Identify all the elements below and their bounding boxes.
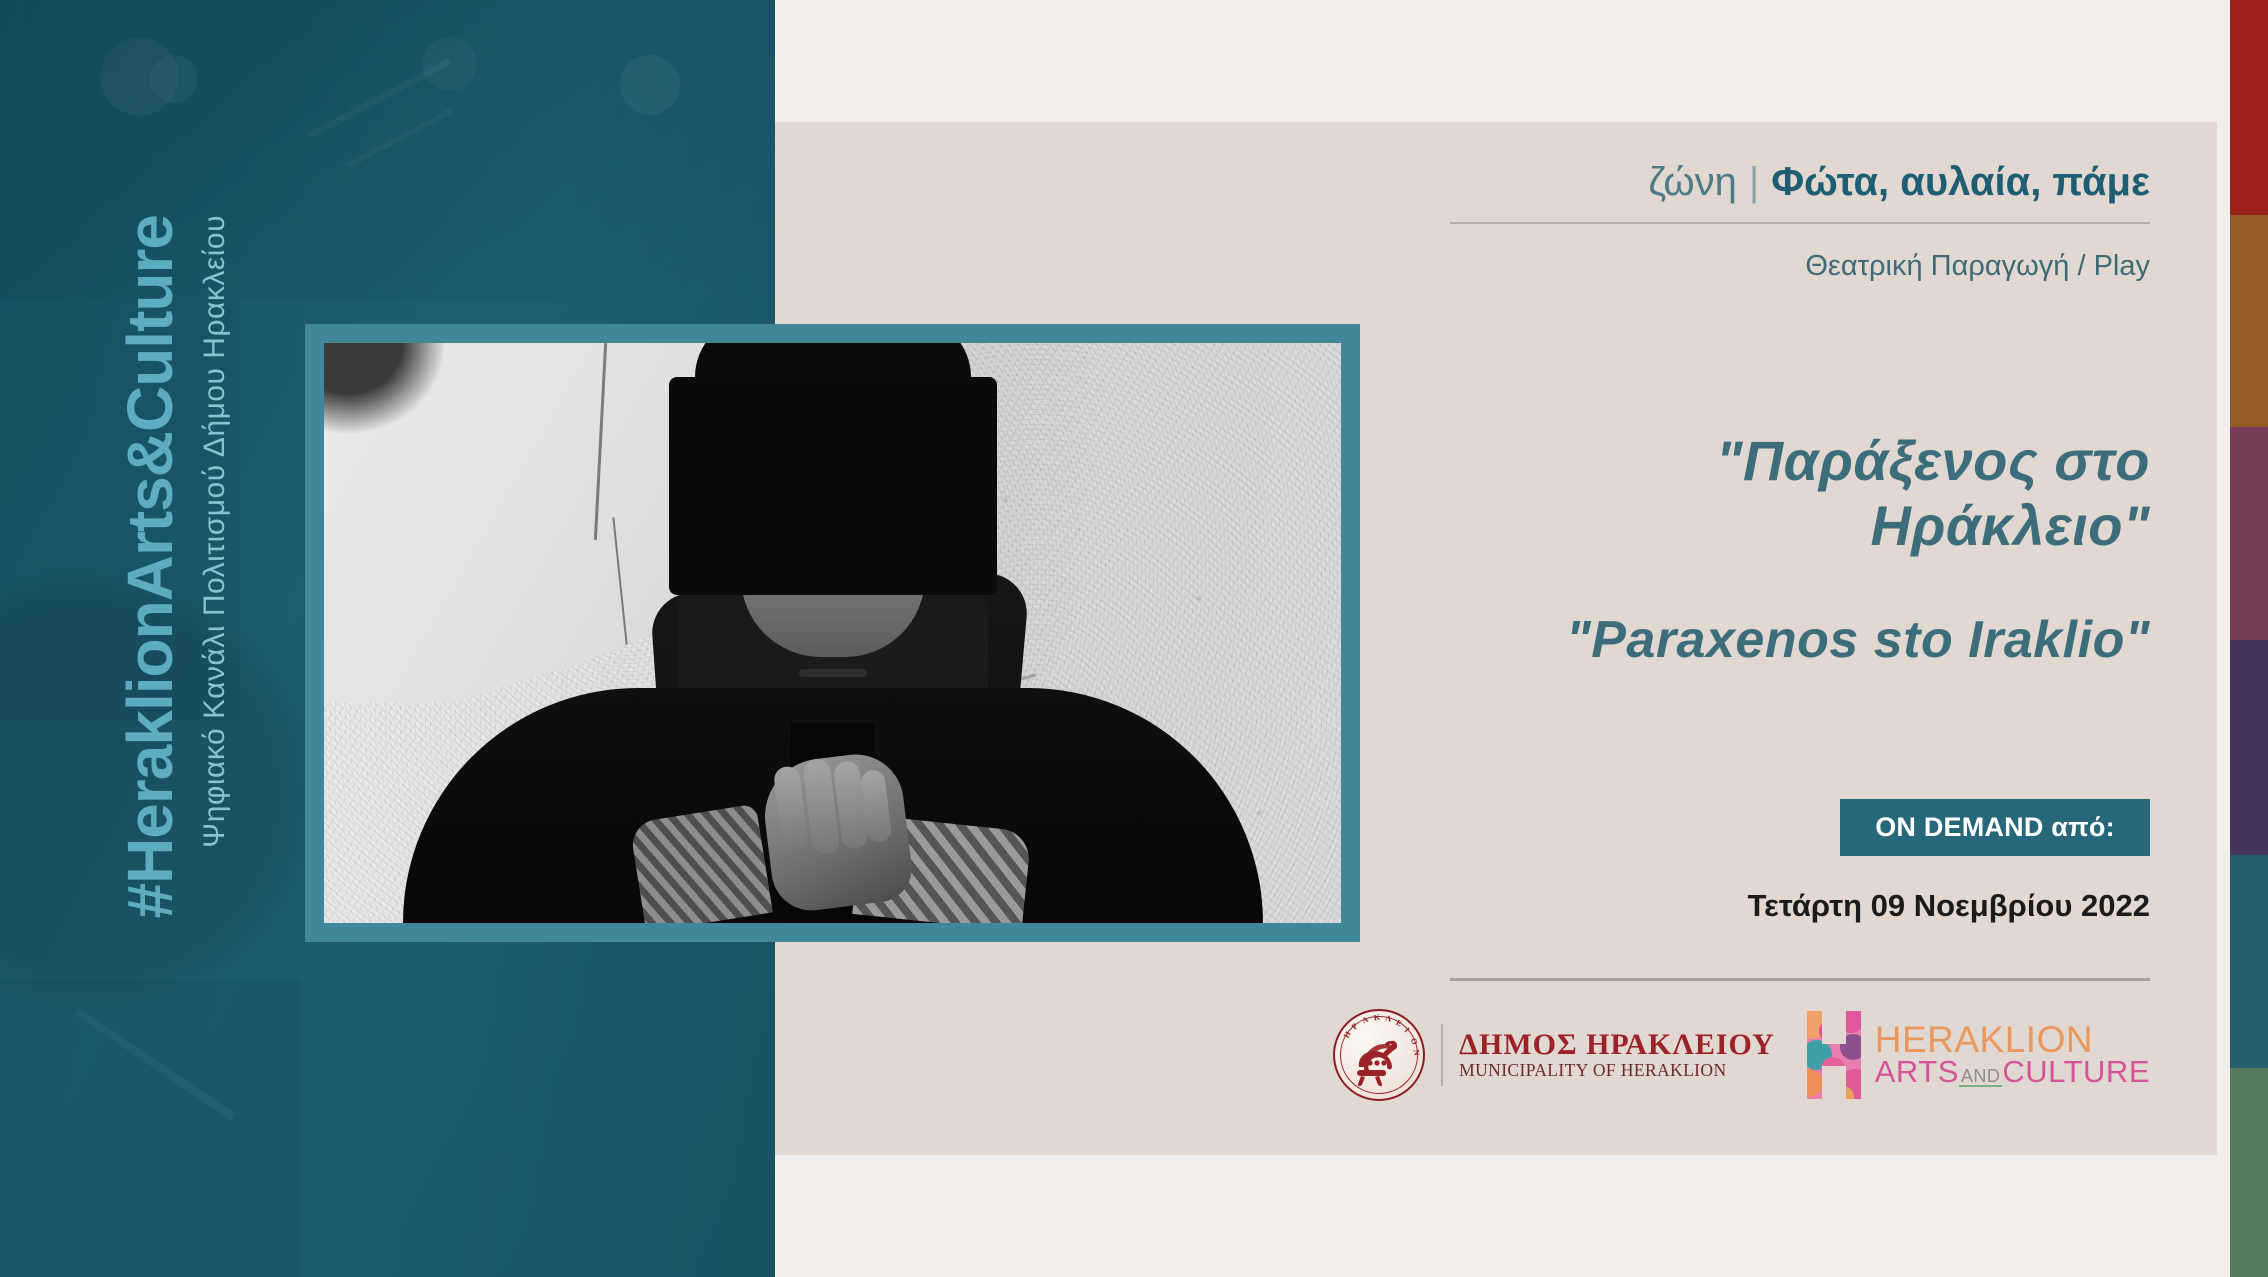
municipality-logo[interactable]: Η Ρ Α Κ Λ Ε Ι Ο Ν ΔΗΜΟΣ ΗΡΑΚΛΕΙΟΥ MUNICI… [1333, 1009, 1775, 1101]
culture-word: CULTURE [2002, 1058, 2150, 1087]
footer-divider [1450, 978, 2150, 981]
color-band-red [2230, 0, 2268, 215]
on-demand-badge[interactable]: ON DEMAND από: [1840, 799, 2150, 856]
photo-subject [324, 343, 1341, 923]
poster-canvas: #HeraklionArts&Culture Ψηφιακό Κανάλι Πο… [0, 0, 2268, 1277]
event-photo [324, 343, 1341, 923]
subject-blindfold [669, 377, 997, 595]
event-date: Τετάρτη 09 Νοεμβρίου 2022 [1450, 888, 2150, 924]
event-photo-frame [305, 324, 1360, 942]
header-divider [1450, 222, 2150, 224]
subject-hand [758, 749, 915, 915]
municipality-seal-icon: Η Ρ Α Κ Λ Ε Ι Ο Ν [1333, 1009, 1425, 1101]
municipality-name-block: ΔΗΜΟΣ ΗΡΑΚΛΕΙΟΥ MUNICIPALITY OF HERAKLIO… [1459, 1029, 1775, 1082]
logo-row: Η Ρ Α Κ Λ Ε Ι Ο Ν ΔΗΜΟΣ ΗΡΑΚΛΕΙΟΥ MUNICI… [1450, 1000, 2150, 1110]
brand-hashtag: #HeraklionArts&Culture [118, 215, 182, 919]
municipality-name-english: MUNICIPALITY OF HERAKLION [1459, 1060, 1775, 1081]
color-band-ochre [2230, 215, 2268, 427]
event-title-latin: "Paraxenos sto Iraklio" [1450, 610, 2150, 670]
colorful-h-icon [1803, 1009, 1865, 1101]
color-band-teal [2230, 855, 2268, 1068]
and-word: AND [1959, 1068, 2003, 1087]
brand-subtitle: Ψηφιακό Κανάλι Πολιτισμού Δήμου Ηρακλείο… [200, 215, 230, 848]
heraklion-arts-culture-logo[interactable]: HERAKLION ARTSANDCULTURE [1803, 1009, 2150, 1101]
color-band-maroon [2230, 427, 2268, 640]
zone-separator: | [1737, 160, 1771, 204]
logo-divider [1441, 1024, 1443, 1086]
zone-label: ζώνη [1648, 160, 1736, 204]
subject-mouth [799, 669, 867, 677]
arts-culture-line2: ARTSANDCULTURE [1875, 1058, 2150, 1087]
arts-culture-wordmark: HERAKLION ARTSANDCULTURE [1875, 1023, 2150, 1086]
subject-finger-1 [772, 765, 808, 854]
event-title-greek: "Παράξενος στο Ηράκλειο" [1450, 428, 2150, 558]
event-category: Θεατρική Παραγωγή / Play [1450, 250, 2150, 283]
municipality-name-greek: ΔΗΜΟΣ ΗΡΑΚΛΕΙΟΥ [1459, 1029, 1775, 1061]
color-band-purple [2230, 640, 2268, 855]
subject-plaid-sleeve [629, 804, 773, 923]
zone-title: Φώτα, αυλαία, πάμε [1771, 160, 2150, 204]
arts-culture-line1: HERAKLION [1875, 1023, 2150, 1057]
arts-word: ARTS [1875, 1058, 1959, 1087]
seal-ring-text: Η Ρ Α Κ Λ Ε Ι Ο Ν [1335, 1011, 1423, 1099]
color-strip [2230, 0, 2268, 1277]
color-band-green [2230, 1068, 2268, 1277]
zone-line: ζώνη|Φώτα, αυλαία, πάμε [1450, 162, 2150, 202]
subject-hat-top [695, 343, 971, 377]
availability-row: ON DEMAND από: [1450, 799, 2150, 856]
